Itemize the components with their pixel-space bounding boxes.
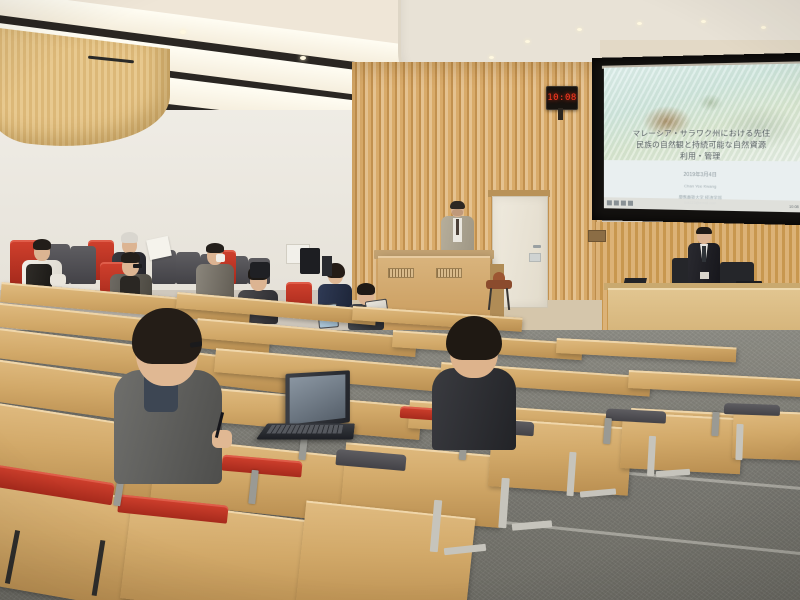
slide-title-line-2: 民族の自然観と持続可能な自然資源	[604, 139, 800, 151]
laptop-keyboard[interactable]	[266, 425, 343, 433]
desk-bracket-6	[711, 412, 719, 436]
foreground-laptop[interactable]	[262, 372, 358, 446]
windows-taskbar[interactable]: 10:08	[604, 197, 800, 212]
seat-row-e-gray4[interactable]	[724, 403, 780, 416]
chair-leg-left	[488, 288, 492, 310]
bag-on-desk[interactable]	[250, 262, 270, 278]
door-lock-plate[interactable]	[529, 253, 541, 262]
face-mask-icon	[216, 254, 225, 262]
chairperson-name-badge	[700, 272, 709, 279]
chair-leg-right	[506, 288, 510, 310]
clock-mount	[558, 108, 563, 120]
task-view-icon[interactable]	[621, 201, 626, 206]
lecture-hall-photo: 10:08 マレーシア・サラワク州における先住 民族の自然観と持続可能な自然資源…	[0, 0, 800, 600]
chairperson-tie	[702, 246, 706, 262]
projection-screen: マレーシア・サラワク州における先住 民族の自然観と持続可能な自然資源 利用・管理…	[592, 53, 800, 226]
audience-member-foreground-right	[432, 320, 516, 450]
slide-surface: マレーシア・サラワク州における先住 民族の自然観と持続可能な自然資源 利用・管理…	[604, 63, 800, 212]
wall-clock: 10:08	[546, 86, 578, 110]
laptop-screen	[290, 374, 346, 424]
side-monitor[interactable]	[300, 248, 320, 274]
start-icon[interactable]	[607, 200, 612, 205]
clock-time-display: 10:08	[547, 93, 577, 103]
slide-title-line-1: マレーシア・サラワク州における先住	[604, 127, 800, 139]
side-chair[interactable]	[486, 272, 512, 312]
glasses-icon	[133, 264, 142, 268]
wall-sign-plaque	[588, 230, 606, 242]
presenter-hair	[450, 201, 465, 209]
slide-date: 2019年3月4日	[604, 170, 800, 179]
seat-row1-gray-b[interactable]	[70, 246, 96, 284]
taskbar-clock: 10:08	[789, 204, 799, 208]
side-equipment[interactable]	[322, 256, 332, 276]
slide-author: Chan Yee Kwang	[604, 182, 800, 191]
podium-vent-left	[388, 268, 414, 278]
audience-member-masked	[196, 244, 234, 300]
slide-title-line-3: 利用・管理	[604, 150, 800, 162]
desk-leg-5	[735, 424, 743, 460]
presenter-face-shadow	[452, 209, 463, 216]
door-handle[interactable]	[533, 245, 541, 248]
search-icon[interactable]	[614, 200, 619, 205]
taskbar-icons[interactable]	[607, 200, 635, 206]
podium-vent-right	[436, 268, 462, 278]
presenter-tie	[456, 219, 459, 235]
laptop-base[interactable]	[256, 423, 355, 439]
laptop-lid	[285, 370, 349, 430]
app-icon[interactable]	[628, 201, 633, 206]
slide-text-block: マレーシア・サラワク州における先住 民族の自然観と持続可能な自然資源 利用・管理…	[604, 127, 800, 207]
chairperson-hair	[696, 227, 712, 234]
audience-member-foreground-writing	[114, 312, 224, 484]
